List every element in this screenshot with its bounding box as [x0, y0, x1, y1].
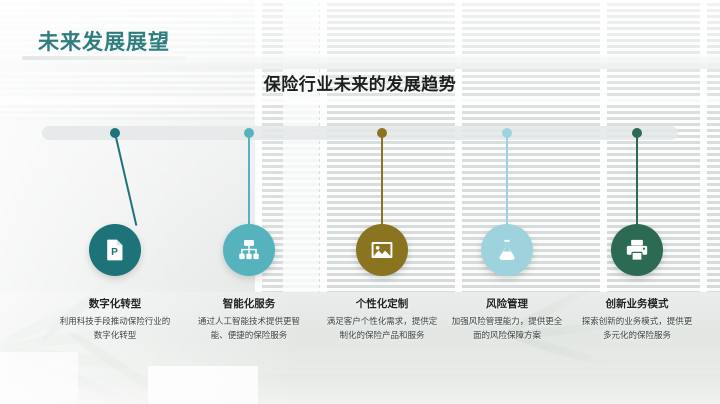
pin-connector-line [636, 133, 638, 228]
icon-bubble[interactable] [481, 224, 533, 276]
pin-item-3[interactable]: 个性化定制满足客户个性化需求，提供定制化的保险产品和服务 [310, 0, 454, 404]
pin-connector-line [114, 133, 137, 226]
document-p-icon: P [102, 237, 128, 263]
slide-canvas: 未来发展展望 保险行业未来的发展趋势 P数字化转型利用科技手段推动保险行业的数字… [0, 0, 720, 404]
pin-top-dot [502, 128, 512, 138]
icon-bubble[interactable] [356, 224, 408, 276]
pin-connector-line [248, 133, 250, 228]
pin-item-5[interactable]: 创新业务模式探索创新的业务模式，提供更多元化的保险服务 [565, 0, 709, 404]
pin-item-4[interactable]: 风险管理加强风险管理能力，提供更全面的风险保障方案 [435, 0, 579, 404]
item-description: 探索创新的业务模式，提供更多元化的保险服务 [579, 314, 695, 342]
item-title: 个性化定制 [310, 296, 454, 311]
pin-top-dot [632, 128, 642, 138]
pin-item-1[interactable]: P数字化转型利用科技手段推动保险行业的数字化转型 [43, 0, 187, 404]
item-title: 风险管理 [435, 296, 579, 311]
icon-bubble[interactable] [223, 224, 275, 276]
items-container: P数字化转型利用科技手段推动保险行业的数字化转型智能化服务通过人工智能技术提供更… [0, 0, 720, 404]
item-title: 数字化转型 [43, 296, 187, 311]
item-description: 加强风险管理能力，提供更全面的风险保障方案 [449, 314, 565, 342]
item-title: 智能化服务 [177, 296, 321, 311]
flask-icon [494, 237, 520, 263]
sitemap-icon [236, 237, 262, 263]
item-description: 通过人工智能技术提供更智能、便捷的保险服务 [191, 314, 307, 342]
icon-bubble[interactable] [611, 224, 663, 276]
pin-item-2[interactable]: 智能化服务通过人工智能技术提供更智能、便捷的保险服务 [177, 0, 321, 404]
pin-connector-line [506, 133, 508, 228]
printer-icon [624, 237, 650, 263]
item-title: 创新业务模式 [565, 296, 709, 311]
svg-text:P: P [111, 247, 118, 258]
image-icon [369, 237, 395, 263]
icon-bubble[interactable]: P [89, 224, 141, 276]
item-description: 满足客户个性化需求，提供定制化的保险产品和服务 [324, 314, 440, 342]
pin-top-dot [377, 128, 387, 138]
pin-connector-line [381, 133, 383, 228]
item-description: 利用科技手段推动保险行业的数字化转型 [57, 314, 173, 342]
pin-top-dot [110, 128, 120, 138]
pin-top-dot [244, 128, 254, 138]
